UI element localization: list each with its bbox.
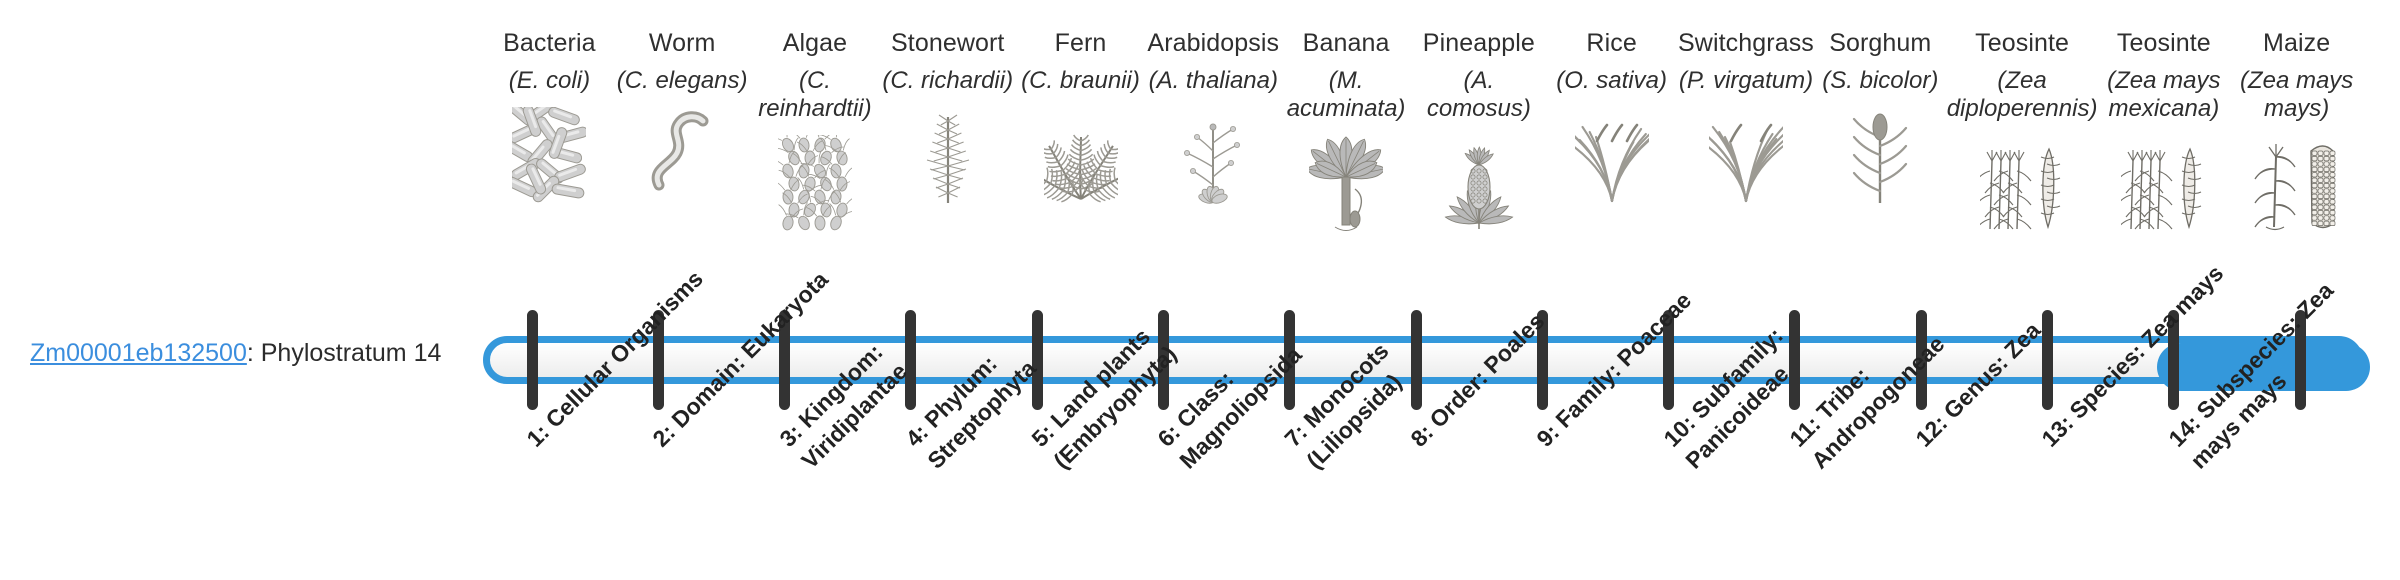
species-column: Teosinte(Zea mays mexicana) bbox=[2097, 28, 2230, 235]
pineapple-illustration bbox=[1442, 131, 1516, 235]
species-common-name: Stonewort bbox=[891, 28, 1004, 58]
species-scientific-name: (Zea mays mays) bbox=[2230, 67, 2363, 123]
species-scientific-name: (S. bicolor) bbox=[1822, 67, 1938, 95]
bacteria-illustration bbox=[512, 103, 586, 207]
species-column: Arabidopsis(A. thaliana) bbox=[1147, 28, 1280, 207]
gene-label: Zm00001eb132500: Phylostratum 14 bbox=[30, 338, 460, 368]
species-scientific-name: (M. acuminata) bbox=[1280, 67, 1413, 123]
species-scientific-name: (P. virgatum) bbox=[1679, 67, 1813, 95]
species-common-name: Worm bbox=[649, 28, 716, 58]
algae-illustration bbox=[778, 131, 852, 235]
species-common-name: Fern bbox=[1055, 28, 1107, 58]
gene-id-link[interactable]: Zm00001eb132500 bbox=[30, 339, 247, 367]
species-column: Maize(Zea mays mays) bbox=[2230, 28, 2363, 235]
teosinte-illustration bbox=[1980, 131, 2065, 235]
rice-illustration bbox=[1575, 103, 1649, 207]
species-common-name: Rice bbox=[1586, 28, 1636, 58]
species-column: Banana(M. acuminata) bbox=[1280, 28, 1413, 235]
species-common-name: Algae bbox=[783, 28, 847, 58]
species-common-name: Sorghum bbox=[1829, 28, 1931, 58]
species-column: Stonewort(C. richardii) bbox=[881, 28, 1014, 207]
species-scientific-name: (A. thaliana) bbox=[1149, 67, 1278, 95]
maize-illustration bbox=[2252, 131, 2341, 235]
species-column: Pineapple(A. comosus) bbox=[1412, 28, 1545, 235]
species-common-name: Teosinte bbox=[2117, 28, 2211, 58]
species-scientific-name: (C. elegans) bbox=[617, 67, 748, 95]
species-scientific-name: (C. braunii) bbox=[1021, 67, 1140, 95]
stratum-tick bbox=[527, 310, 538, 410]
species-common-name: Banana bbox=[1303, 28, 1390, 58]
species-common-name: Teosinte bbox=[1975, 28, 2069, 58]
species-common-name: Bacteria bbox=[503, 28, 596, 58]
species-scientific-name: (E. coli) bbox=[509, 67, 590, 95]
species-column: Rice(O. sativa) bbox=[1545, 28, 1678, 207]
species-scientific-name: (Zea mays mexicana) bbox=[2097, 67, 2230, 123]
worm-illustration bbox=[645, 103, 719, 207]
species-scientific-name: (C. richardii) bbox=[882, 67, 1013, 95]
fern-illustration bbox=[1044, 103, 1118, 207]
species-scientific-name: (C. reinhardtii) bbox=[749, 67, 882, 123]
gene-phylostratum-text: : Phylostratum 14 bbox=[247, 339, 442, 367]
species-scientific-name: (O. sativa) bbox=[1556, 67, 1667, 95]
sorghum-illustration bbox=[1843, 103, 1917, 207]
species-common-name: Switchgrass bbox=[1678, 28, 1814, 58]
stonewort-illustration bbox=[911, 103, 985, 207]
switchgrass-illustration bbox=[1709, 103, 1783, 207]
phylostratum-figure: Bacteria(E. coli)Worm(C. elegans)Algae(C… bbox=[0, 0, 2400, 580]
species-scientific-name: (A. comosus) bbox=[1412, 67, 1545, 123]
species-column: Bacteria(E. coli) bbox=[483, 28, 616, 207]
species-common-name: Maize bbox=[2263, 28, 2330, 58]
species-column: Fern(C. braunii) bbox=[1014, 28, 1147, 207]
teosinte-illustration bbox=[2121, 131, 2206, 235]
species-common-name: Arabidopsis bbox=[1147, 28, 1279, 58]
species-column: Algae(C. reinhardtii) bbox=[749, 28, 882, 235]
species-column: Switchgrass(P. virgatum) bbox=[1678, 28, 1814, 207]
species-common-name: Pineapple bbox=[1423, 28, 1535, 58]
species-column: Teosinte(Zea diploperennis) bbox=[1947, 28, 2098, 235]
species-column: Sorghum(S. bicolor) bbox=[1814, 28, 1947, 207]
species-column: Worm(C. elegans) bbox=[616, 28, 749, 207]
arabidopsis-illustration bbox=[1176, 103, 1250, 207]
species-scientific-name: (Zea diploperennis) bbox=[1947, 67, 2098, 123]
banana-illustration bbox=[1309, 131, 1383, 235]
